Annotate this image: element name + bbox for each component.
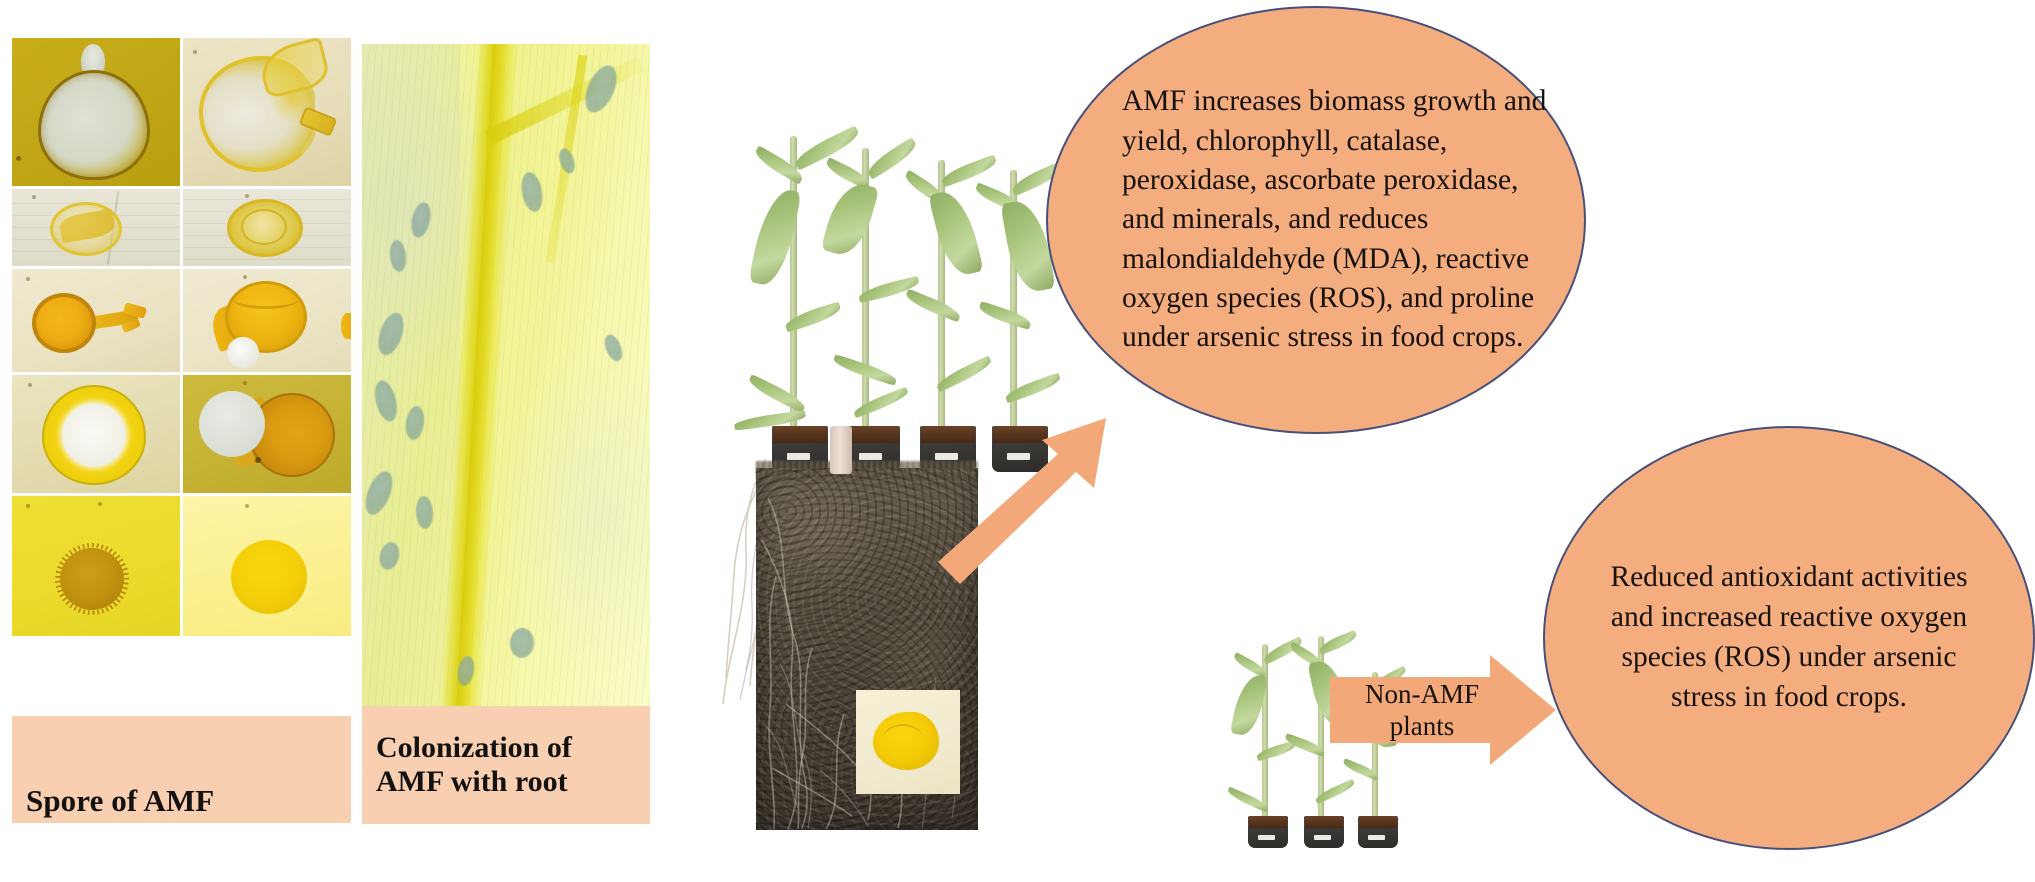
debris-speck-icon	[255, 457, 261, 463]
debris-speck-icon	[28, 383, 32, 387]
nonamf-arrow-label: Non-AMF plants	[1338, 679, 1506, 743]
debris-speck-icon	[245, 504, 249, 508]
debris-speck-icon	[193, 50, 197, 54]
root-colonization-panel	[362, 44, 650, 716]
spore-tile-8	[183, 375, 351, 493]
air-bubble	[199, 391, 265, 457]
spore-tile-2	[183, 38, 351, 186]
debris-speck-icon	[243, 275, 247, 279]
spore-caption-label: Spore of AMF	[12, 784, 214, 823]
spore-inset	[856, 690, 960, 794]
amf-maize-plants	[752, 32, 1062, 472]
spore-crease	[233, 289, 299, 309]
debris-speck-icon	[26, 277, 30, 281]
spore-body	[32, 293, 96, 353]
air-bubble	[227, 337, 259, 368]
amf-outcome-text: AMF increases biomass growth and yield, …	[1048, 82, 1584, 358]
spore-tile-3	[12, 189, 180, 266]
spore-tile-4	[183, 189, 351, 266]
root-panel-caption: Colonization of AMF with root	[362, 706, 650, 824]
spore-inner-layer	[241, 209, 287, 245]
graphical-abstract-figure: Spore of AMF Colonization of AMF with ro…	[0, 0, 2035, 882]
root-caption-line-1: Colonization of	[376, 731, 572, 765]
debris-speck-icon	[245, 194, 249, 198]
spore-body	[231, 540, 307, 614]
spore-granular-contents	[62, 403, 126, 467]
nonamf-label-line-2: plants	[1338, 711, 1506, 743]
spore-tile-6	[183, 269, 351, 372]
debris-speck-icon	[16, 156, 21, 161]
spore-tile-7	[12, 375, 180, 493]
spore-tile-5	[12, 269, 180, 372]
spore-tile-9	[12, 496, 180, 636]
nonamf-label-line-1: Non-AMF	[1338, 679, 1506, 711]
debris-speck-icon	[32, 195, 36, 199]
spore-tile-1	[12, 38, 180, 186]
root-caption-line-2: AMF with root	[376, 765, 572, 799]
spore-body	[60, 548, 124, 610]
root-caption-label: Colonization of AMF with root	[362, 731, 572, 798]
spore-body	[873, 712, 939, 770]
debris-speck-icon	[243, 381, 247, 385]
amf-arrow	[938, 412, 1138, 588]
amf-outcome-callout: AMF increases biomass growth and yield, …	[1046, 6, 1586, 434]
debris-speck-icon	[26, 504, 30, 508]
spore-panel-caption: Spore of AMF	[12, 716, 351, 823]
spore-panel	[12, 38, 351, 728]
adjacent-spore-edge	[341, 313, 351, 339]
spore-body	[38, 70, 150, 180]
spore-wall-flap	[256, 38, 332, 99]
maize-plant	[826, 80, 910, 472]
nonamf-arrow: Non-AMF plants	[1330, 655, 1556, 765]
spore-tile-10	[183, 496, 351, 636]
stem-base-collar	[830, 426, 852, 474]
maize-plant	[1238, 598, 1300, 848]
nonamf-outcome-text: Reduced antioxidant activities and incre…	[1545, 558, 2033, 717]
maize-plant	[756, 68, 836, 472]
nonamf-outcome-callout: Reduced antioxidant activities and incre…	[1543, 426, 2035, 850]
debris-speck-icon	[98, 502, 102, 506]
